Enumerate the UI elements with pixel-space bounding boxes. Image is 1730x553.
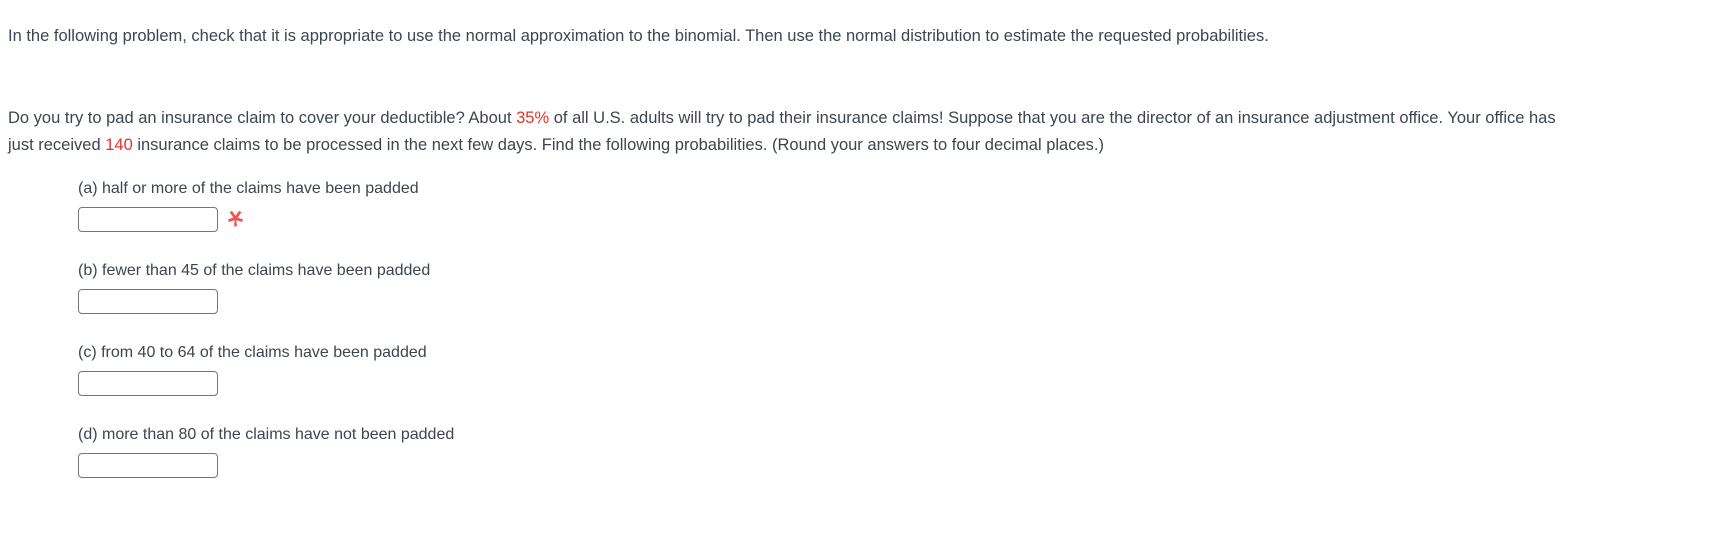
- problem-page: In the following problem, check that it …: [0, 0, 1730, 553]
- question-parts-list: (a) half or more of the claims have been…: [78, 178, 1478, 478]
- pad-percent-value: 35%: [516, 109, 549, 127]
- prompt-segment-3: insurance claims to be processed in the …: [133, 136, 1104, 154]
- prompt-paragraph: Do you try to pad an insurance claim to …: [8, 105, 1574, 159]
- answer-row-d: [78, 453, 1478, 478]
- question-part-d: (d) more than 80 of the claims have not …: [78, 424, 1478, 478]
- claims-count-value: 140: [105, 136, 133, 154]
- question-part-a: (a) half or more of the claims have been…: [78, 178, 1478, 232]
- intro-paragraph: In the following problem, check that it …: [8, 23, 1588, 50]
- question-part-c-label: (c) from 40 to 64 of the claims have bee…: [78, 342, 1478, 364]
- question-part-c: (c) from 40 to 64 of the claims have bee…: [78, 342, 1478, 396]
- question-part-d-label: (d) more than 80 of the claims have not …: [78, 424, 1478, 446]
- question-part-b: (b) fewer than 45 of the claims have bee…: [78, 260, 1478, 314]
- answer-input-c[interactable]: [78, 371, 218, 396]
- answer-row-c: [78, 371, 1478, 396]
- answer-input-a[interactable]: [78, 207, 218, 232]
- answer-input-d[interactable]: [78, 453, 218, 478]
- prompt-segment-1: Do you try to pad an insurance claim to …: [8, 109, 516, 127]
- question-part-a-label: (a) half or more of the claims have been…: [78, 178, 1478, 200]
- answer-row-a: [78, 207, 1478, 232]
- incorrect-x-icon: [227, 210, 244, 229]
- answer-row-b: [78, 289, 1478, 314]
- answer-input-b[interactable]: [78, 289, 218, 314]
- question-part-b-label: (b) fewer than 45 of the claims have bee…: [78, 260, 1478, 282]
